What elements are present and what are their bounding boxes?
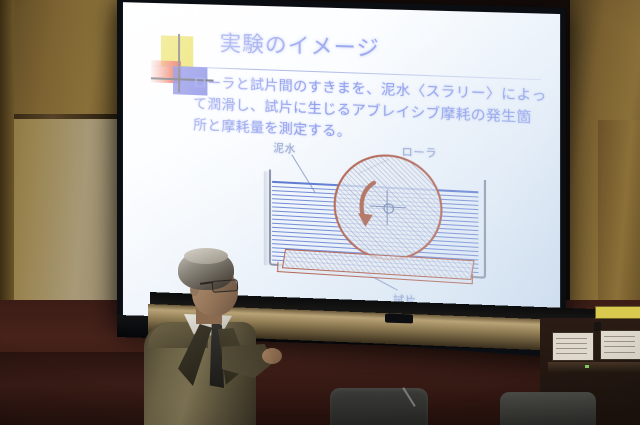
lectern-instruction-panel-left <box>552 332 594 361</box>
lectern-status-led <box>585 365 589 368</box>
wall-upper-left <box>0 0 132 118</box>
equipment-box <box>385 314 413 324</box>
presenter <box>138 248 274 425</box>
lectern-warning-sign <box>595 306 640 319</box>
presenter-hand <box>262 348 282 364</box>
roller-hub <box>383 203 394 214</box>
lectern-instruction-panel-right <box>600 330 640 360</box>
presenter-glasses <box>212 279 239 293</box>
chair-right <box>500 392 596 425</box>
presenter-hair-top <box>184 248 228 264</box>
decoration-line-vertical <box>178 34 180 93</box>
lectern-control-tray[interactable] <box>548 362 640 372</box>
door-right <box>598 120 640 300</box>
slide-body-text: ローラと試片間のすきまを、泥水〈スラリー〉によっ て潤滑し、試片に生じるアブレイ… <box>193 73 559 153</box>
slide-title: 実験のイメージ <box>220 27 380 63</box>
experiment-diagram: 泥水 ローラ 試片 <box>255 140 500 319</box>
lecture-hall-photo: 実験のイメージ ローラと試片間のすきまを、泥水〈スラリー〉によっ て潤滑し、試片… <box>0 0 640 425</box>
wall-dark-band-left <box>0 352 150 425</box>
wall-seam <box>0 114 131 119</box>
rotation-arrow-icon <box>354 178 384 231</box>
